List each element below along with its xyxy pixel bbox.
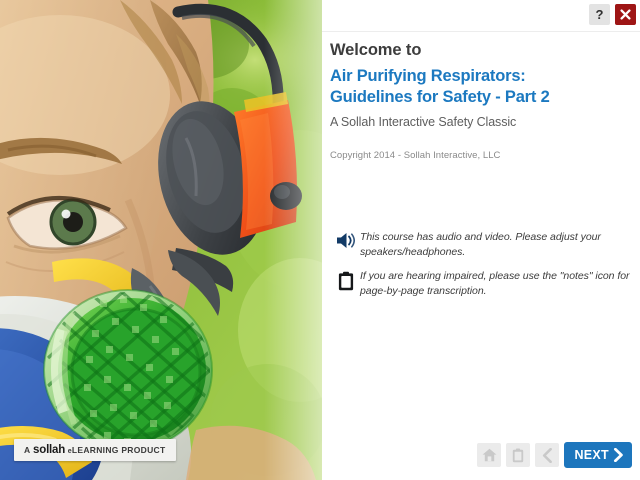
- badge-suffix: LEARNING PRODUCT: [72, 445, 166, 455]
- course-hero-photo: A sollah eLEARNING PRODUCT: [0, 0, 322, 480]
- badge-brand-name: sollah: [33, 444, 65, 456]
- home-icon: [482, 448, 497, 462]
- clipboard-notes-icon: [512, 448, 524, 463]
- notice-audio-icon-wrap: [332, 230, 360, 249]
- back-button[interactable]: [535, 443, 559, 467]
- speaker-audio-icon: [336, 232, 357, 249]
- next-button[interactable]: NEXT: [564, 442, 632, 468]
- notice-audio-text: This course has audio and video. Please …: [360, 230, 632, 260]
- sollah-elearning-badge: A sollah eLEARNING PRODUCT: [14, 439, 176, 461]
- chevron-left-icon: [542, 448, 553, 463]
- course-navigation-bar: NEXT: [322, 442, 640, 468]
- badge-prefix: A: [24, 445, 30, 455]
- content-panel: ? Welcome to Air Purifying Respirators: …: [322, 0, 640, 480]
- help-button[interactable]: ?: [589, 4, 610, 25]
- chevron-right-icon: [613, 448, 624, 462]
- clipboard-notes-icon: [338, 271, 354, 291]
- next-button-label: NEXT: [574, 448, 609, 462]
- close-button[interactable]: [615, 4, 636, 25]
- close-x-icon: [620, 9, 631, 20]
- notice-audio: This course has audio and video. Please …: [332, 230, 632, 260]
- course-intro-screen: A sollah eLEARNING PRODUCT ? Welcome to: [0, 0, 640, 480]
- question-mark-icon: ?: [596, 8, 604, 21]
- notice-transcription-text: If you are hearing impaired, please use …: [360, 269, 632, 299]
- home-button[interactable]: [477, 443, 501, 467]
- course-title-line-2: Guidelines for Safety - Part 2: [330, 87, 630, 109]
- welcome-block: Welcome to Air Purifying Respirators: Gu…: [330, 40, 630, 161]
- copyright-text: Copyright 2014 - Sollah Interactive, LLC: [330, 150, 630, 161]
- notes-button[interactable]: [506, 443, 530, 467]
- window-titlebar: ?: [322, 0, 640, 32]
- window-controls: ?: [589, 4, 636, 25]
- course-subtitle: A Sollah Interactive Safety Classic: [330, 115, 630, 129]
- welcome-greeting: Welcome to: [330, 40, 630, 61]
- course-title-line-1: Air Purifying Respirators:: [330, 66, 630, 88]
- notice-transcription: If you are hearing impaired, please use …: [332, 269, 632, 299]
- notice-notes-icon-wrap: [332, 269, 360, 291]
- hero-photo-illustration: [0, 0, 322, 480]
- notices-list: This course has audio and video. Please …: [332, 230, 632, 308]
- course-title: Air Purifying Respirators: Guidelines fo…: [330, 66, 630, 110]
